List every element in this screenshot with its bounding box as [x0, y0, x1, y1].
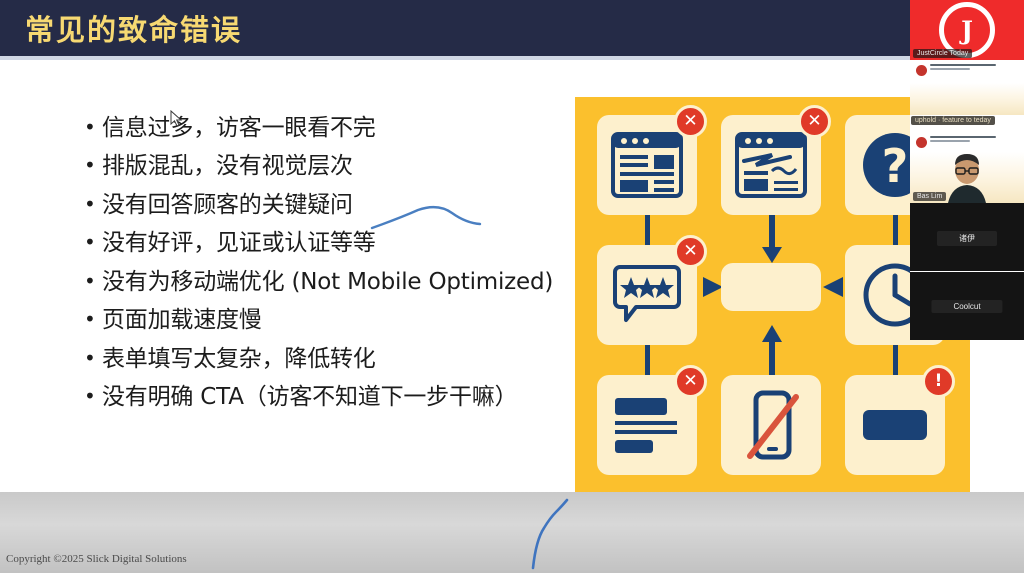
shared-slide-banner: uphold · feature to teday: [911, 116, 995, 125]
error-badge: ✕: [674, 105, 707, 138]
info-card-no-reviews: ✕: [597, 245, 697, 345]
bullet-marker: •: [84, 383, 102, 410]
title-divider: [0, 56, 1024, 60]
video-tile-camera-off-1[interactable]: 诸伊: [910, 203, 1024, 271]
mouse-pointer: [170, 110, 183, 128]
participant-name: JustCircle Today: [913, 49, 972, 58]
infographic-grid: ✕ ✕: [597, 115, 949, 473]
shared-slide-text: [930, 136, 1000, 144]
list-item: • 表单填写太复杂，降低转化: [84, 345, 554, 374]
info-card-messy-layout: ✕: [721, 115, 821, 215]
bullet-marker: •: [84, 152, 102, 179]
video-tile-brand[interactable]: J JustCircle Today: [910, 0, 1024, 60]
list-item: • 没有回答顾客的关键疑问: [84, 191, 554, 220]
presenter-avatar: [944, 151, 990, 203]
browser-window-cluttered-icon: [610, 131, 684, 199]
form-fields-icon: [611, 394, 683, 456]
error-badge: ✕: [674, 365, 707, 398]
list-item: • 排版混乱，没有视觉层次: [84, 152, 554, 181]
info-card-empty-placeholder: [721, 263, 821, 311]
participant-name: Coolcut: [931, 300, 1002, 313]
presentation-slide: 常见的致命错误 • 信息过多，访客一眼看不完 • 排版混乱，没有视觉层次 • 没…: [0, 0, 1024, 573]
info-card-cluttered-page: ✕: [597, 115, 697, 215]
cta-button-icon: [860, 404, 930, 446]
bullet-marker: •: [84, 114, 102, 141]
svg-text:?: ?: [882, 139, 909, 193]
video-tile-presenter[interactable]: uphold · feature to teday Bas Lim: [910, 115, 1024, 203]
connector-line: [893, 345, 898, 375]
bullet-text: 排版混乱，没有视觉层次: [102, 152, 353, 181]
meeting-video-panel[interactable]: J JustCircle Today uphold · feature to t…: [910, 0, 1024, 340]
bullet-text: 信息过多，访客一眼看不完: [102, 114, 376, 143]
bullet-text: 表单填写太复杂，降低转化: [102, 345, 376, 374]
review-stars-speech-bubble-icon: [609, 264, 685, 326]
list-item: • 没有好评，见证或认证等等: [84, 229, 554, 258]
list-item: • 没有为移动端优化 (Not Mobile Optimized): [84, 268, 554, 297]
connector-line: [893, 215, 898, 245]
info-card-missing-cta: !: [845, 375, 945, 475]
error-badge: ✕: [674, 235, 707, 268]
bullet-text: 没有明确 CTA（访客不知道下一步干嘛）: [102, 383, 517, 412]
participant-name: 诸伊: [937, 231, 997, 246]
bullet-text: 页面加载速度慢: [102, 306, 262, 335]
bullet-marker: •: [84, 268, 102, 295]
bullet-list: • 信息过多，访客一眼看不完 • 排版混乱，没有视觉层次 • 没有回答顾客的关键…: [84, 114, 554, 422]
arrow-up-icon: [757, 325, 787, 375]
bullet-marker: •: [84, 191, 102, 218]
mobile-phone-crossed-out-icon: [740, 388, 802, 462]
info-card-not-mobile-optimized: [721, 375, 821, 475]
shared-slide-thumbnail: [910, 60, 1024, 115]
video-tile-screen-share[interactable]: [910, 60, 1024, 115]
bullet-text: 没有好评，见证或认证等等: [102, 229, 376, 258]
shared-slide-logo-icon: [916, 137, 927, 148]
copyright-text: Copyright ©2025 Slick Digital Solutions: [6, 553, 187, 565]
slide-title-banner: 常见的致命错误: [0, 0, 1024, 56]
list-item: • 没有明确 CTA（访客不知道下一步干嘛）: [84, 383, 554, 412]
shared-slide-logo-icon: [916, 65, 927, 76]
list-item: • 信息过多，访客一眼看不完: [84, 114, 554, 143]
bullet-text: 没有回答顾客的关键疑问: [102, 191, 353, 220]
list-item: • 页面加载速度慢: [84, 306, 554, 335]
arrow-right-icon: [697, 275, 723, 299]
info-card-complex-form: ✕: [597, 375, 697, 475]
error-badge: ✕: [798, 105, 831, 138]
participant-name: Bas Lim: [913, 192, 946, 201]
bullet-marker: •: [84, 306, 102, 333]
shared-slide-text: [930, 64, 1000, 72]
arrow-down-icon: [757, 215, 787, 263]
video-tile-camera-off-2[interactable]: Coolcut: [910, 272, 1024, 340]
browser-window-messy-layout-icon: [734, 131, 808, 199]
warning-badge: !: [922, 365, 955, 398]
connector-line: [645, 345, 650, 375]
connector-line: [645, 215, 650, 245]
bullet-text: 没有为移动端优化 (Not Mobile Optimized): [102, 268, 553, 297]
bullet-marker: •: [84, 229, 102, 256]
bullet-marker: •: [84, 345, 102, 372]
page-title: 常见的致命错误: [25, 7, 242, 49]
